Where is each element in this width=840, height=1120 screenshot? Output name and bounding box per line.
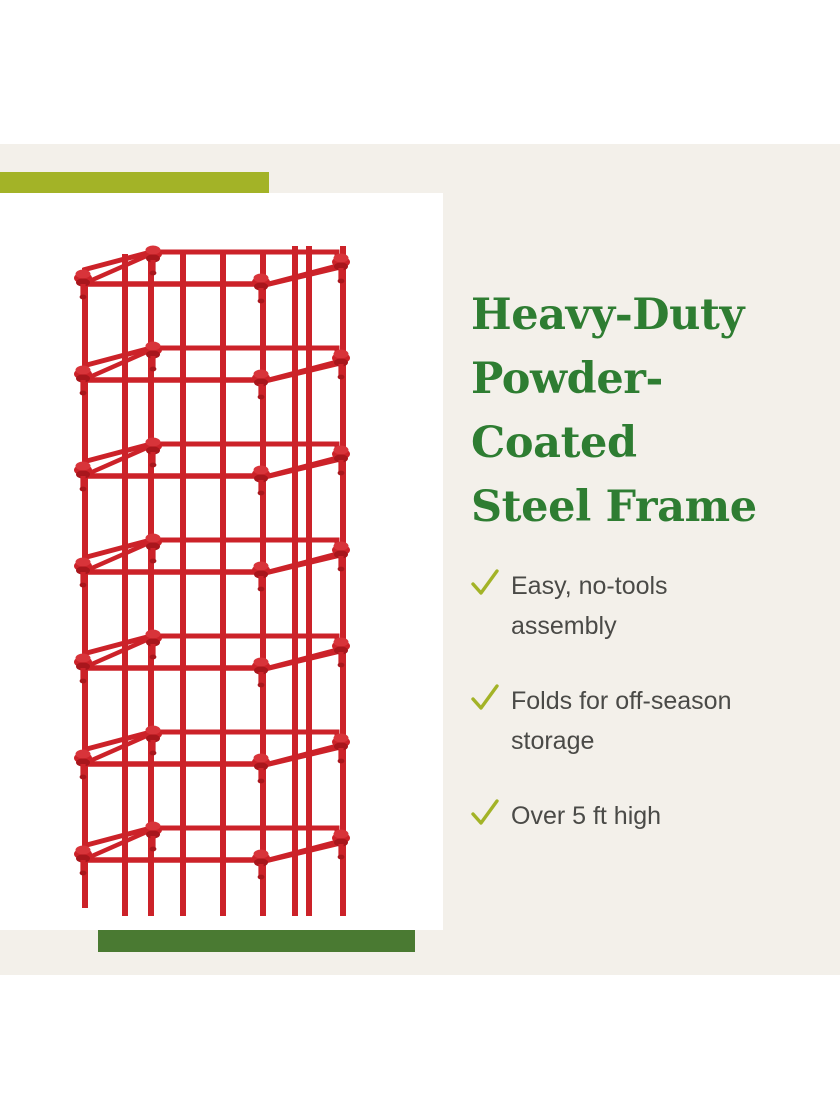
list-item: Folds for off-season storage	[471, 682, 821, 761]
list-item: Over 5 ft high	[471, 797, 821, 837]
product-illustration-tomato-cage	[55, 240, 365, 940]
dark-green-ground-bar	[98, 930, 415, 952]
benefit-label: Folds for off-season storage	[511, 682, 773, 761]
copy-column: Heavy-Duty Powder-Coated Steel Frame Eas…	[471, 283, 821, 837]
page-title: Heavy-Duty Powder-Coated Steel Frame	[471, 283, 821, 539]
benefit-label: Over 5 ft high	[511, 797, 661, 837]
check-icon	[471, 799, 499, 829]
marketing-card: Heavy-Duty Powder-Coated Steel Frame Eas…	[0, 0, 840, 1120]
check-icon	[471, 569, 499, 599]
olive-accent-bar	[0, 172, 269, 193]
check-icon	[471, 684, 499, 714]
list-item: Easy, no-tools assembly	[471, 567, 821, 646]
benefits-list: Easy, no-tools assembly Folds for off-se…	[471, 567, 821, 837]
benefit-label: Easy, no-tools assembly	[511, 567, 773, 646]
